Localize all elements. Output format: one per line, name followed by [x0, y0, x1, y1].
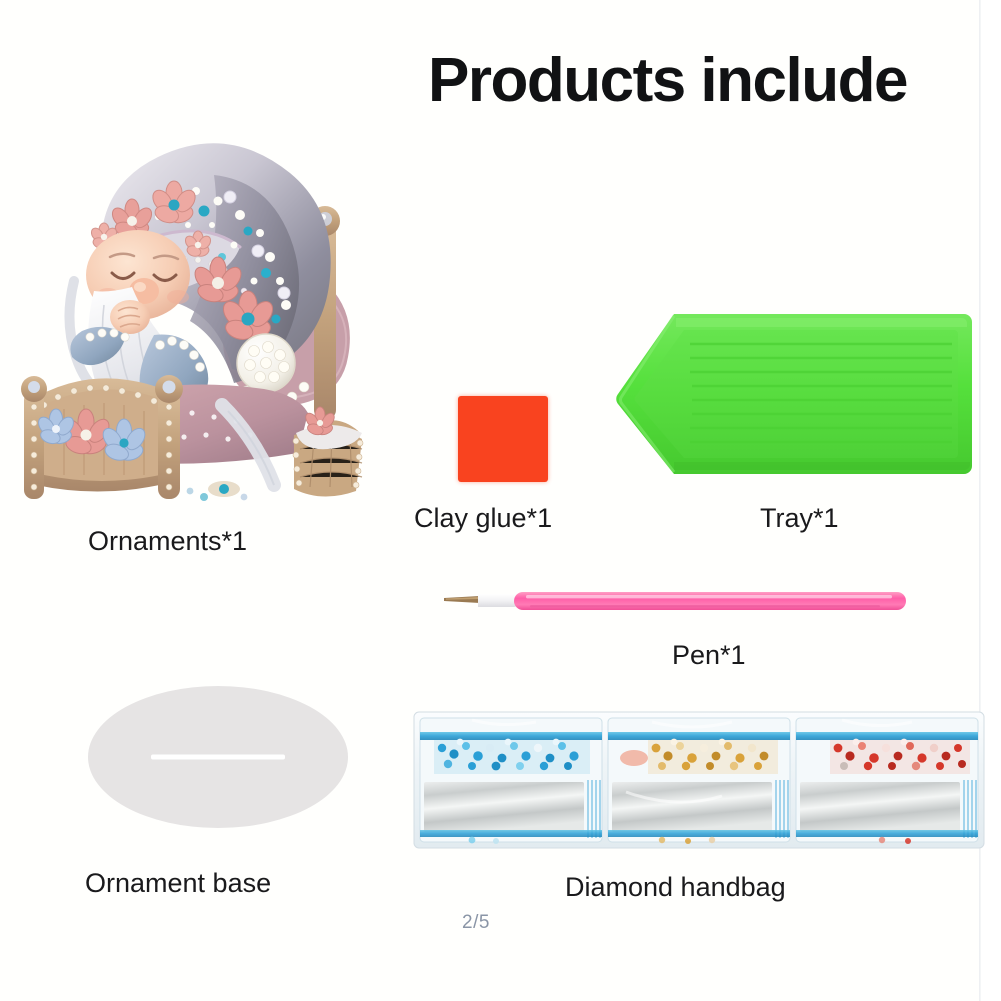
- clay-glue-label: Clay glue*1: [414, 503, 552, 534]
- ornaments-label: Ornaments*1: [88, 526, 247, 557]
- ornament-base-icon: [88, 686, 348, 828]
- ornaments-illustration: [8, 105, 408, 505]
- diamond-handbag-icon: [412, 702, 986, 862]
- clay-glue-icon: [458, 396, 548, 482]
- page-title: Products include: [428, 45, 988, 116]
- ornament-base-label: Ornament base: [85, 868, 271, 899]
- pen-label: Pen*1: [672, 640, 746, 671]
- page-indicator: 2/5: [462, 912, 490, 934]
- tray-icon: [606, 300, 984, 496]
- diamond-handbag-label: Diamond handbag: [565, 872, 786, 903]
- pen-icon: [440, 588, 910, 614]
- product-info-page: Products include: [0, 0, 1001, 1001]
- ornament-base-slot: [151, 755, 285, 760]
- tray-label: Tray*1: [760, 503, 839, 534]
